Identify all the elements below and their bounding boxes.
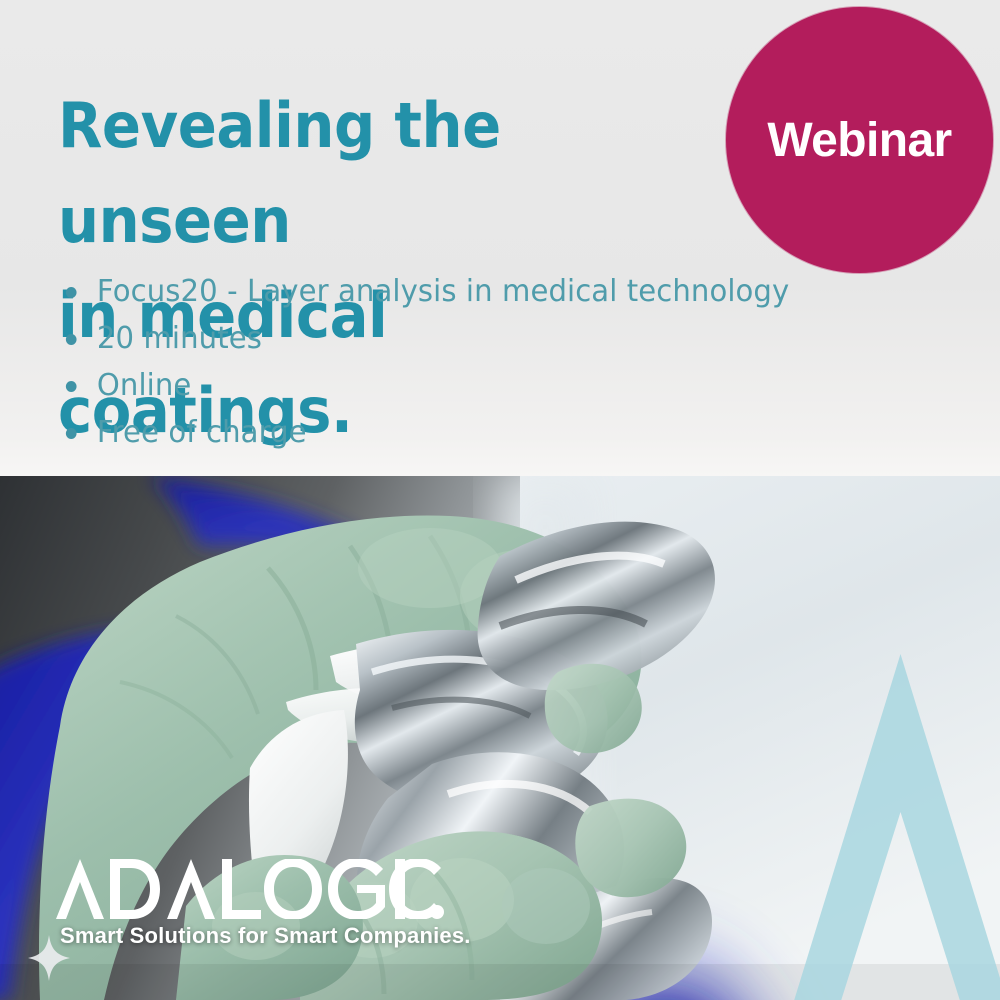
- bullet-label: Free of charge: [97, 415, 307, 450]
- list-item: Focus20 - Layer analysis in medical tech…: [62, 268, 789, 315]
- brand-tagline: Smart Solutions for Smart Companies.: [60, 925, 476, 947]
- adalogic-wordmark-icon: [56, 859, 444, 919]
- list-item: Free of charge: [62, 409, 789, 456]
- feature-bullet-list: Focus20 - Layer analysis in medical tech…: [62, 268, 812, 456]
- webinar-badge-label: Webinar: [767, 117, 951, 165]
- list-item: 20 minutes: [62, 315, 789, 362]
- brand-logo-lockup: Smart Solutions for Smart Companies.: [56, 859, 476, 947]
- hero-photo: Smart Solutions for Smart Companies.: [0, 476, 1000, 1000]
- bullet-label: 20 minutes: [97, 321, 262, 356]
- bullet-label: Online: [97, 368, 191, 403]
- poster-root: Revealing the unseen in medical coatings…: [0, 0, 1000, 1000]
- webinar-badge[interactable]: Webinar: [726, 7, 993, 273]
- four-point-star-icon: [28, 935, 70, 981]
- bullet-label: Focus20 - Layer analysis in medical tech…: [97, 274, 789, 309]
- list-item: Online: [62, 362, 789, 409]
- top-panel: Revealing the unseen in medical coatings…: [0, 0, 1000, 476]
